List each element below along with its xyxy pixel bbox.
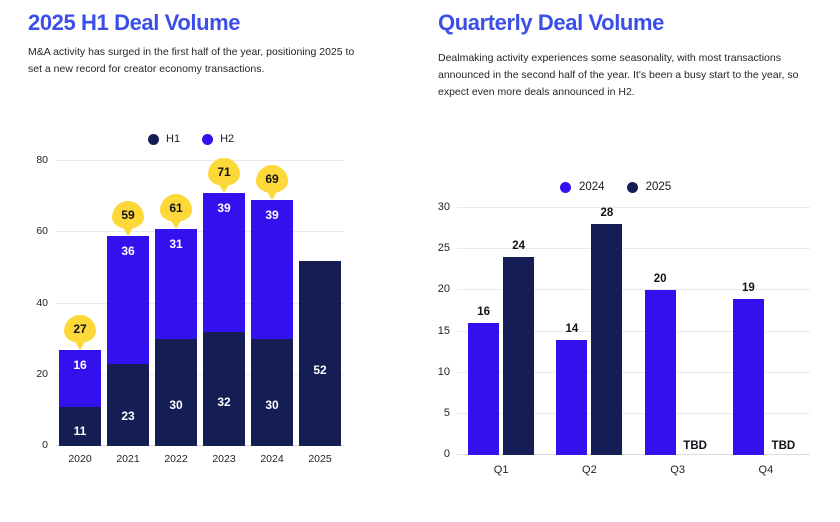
- bar-value-label: 30: [251, 398, 293, 412]
- bar-segment-h2[interactable]: 36: [107, 236, 149, 364]
- pin-tail-icon: [169, 217, 183, 229]
- bar-segment-h1[interactable]: 52: [299, 261, 341, 446]
- bar-segment-h1[interactable]: 30: [251, 339, 293, 446]
- pin-tail-icon: [217, 181, 231, 193]
- y-axis-tick-label: 5: [444, 407, 450, 419]
- right-panel-title: Quarterly Deal Volume: [438, 10, 664, 36]
- total-badge-pin: 59: [112, 201, 144, 229]
- bar-2024[interactable]: 20: [645, 290, 676, 455]
- left-chart-plot-area: 0204060802020111627202123365920223031612…: [56, 161, 344, 446]
- stacked-bar[interactable]: 233659: [107, 161, 149, 446]
- bar-2024[interactable]: 19: [733, 299, 764, 455]
- bar-segment-h2[interactable]: 16: [59, 350, 101, 407]
- y-axis-tick-label: 25: [438, 242, 450, 254]
- legend-dot-h1-icon: [148, 134, 159, 145]
- legend-label-h2: H2: [220, 133, 234, 145]
- stacked-bar[interactable]: 303161: [155, 161, 197, 446]
- bar-placeholder-2025: TBD: [680, 435, 711, 455]
- stacked-bar[interactable]: 303969: [251, 161, 293, 446]
- legend-label-2025: 2025: [646, 181, 672, 193]
- y-axis-tick-label: 30: [438, 201, 450, 213]
- bar-segment-h2[interactable]: 31: [155, 229, 197, 339]
- total-badge-pin: 27: [64, 315, 96, 343]
- total-badge-value: 59: [112, 201, 144, 229]
- legend-dot-2025-icon: [627, 182, 638, 193]
- bar-value-label: 16: [59, 358, 101, 372]
- bar-value-label: 14: [556, 323, 587, 335]
- legend-dot-2024-icon: [560, 182, 571, 193]
- bar-value-label: 19: [733, 282, 764, 294]
- x-axis-tick-label: 2020: [68, 453, 91, 465]
- bar-segment-h1[interactable]: 11: [59, 407, 101, 446]
- left-panel-title: 2025 H1 Deal Volume: [28, 10, 240, 36]
- gridline: 30: [457, 207, 810, 208]
- right-chart-plot-area: 051015202530Q11624Q21428Q320TBDQ419TBD: [457, 208, 810, 455]
- legend-label-h1: H1: [166, 133, 180, 145]
- bar-placeholder-2025: TBD: [768, 435, 799, 455]
- total-badge-pin: 61: [160, 194, 192, 222]
- x-axis-tick-label: Q1: [494, 464, 509, 476]
- y-axis-tick-label: 60: [36, 225, 48, 237]
- y-axis-tick-label: 10: [438, 366, 450, 378]
- total-badge-value: 69: [256, 165, 288, 193]
- right-chart: 051015202530Q11624Q21428Q320TBDQ419TBD: [420, 195, 840, 485]
- bar-segment-h1[interactable]: 32: [203, 332, 245, 446]
- left-panel: 2025 H1 Deal Volume M&A activity has sur…: [0, 0, 420, 522]
- y-axis-tick-label: 20: [36, 368, 48, 380]
- x-axis-tick-label: 2023: [212, 453, 235, 465]
- bar-value-label: 24: [503, 240, 534, 252]
- bar-value-label: 32: [203, 395, 245, 409]
- stacked-bar[interactable]: 111627: [59, 161, 101, 446]
- left-chart-legend: H1 H2: [148, 133, 234, 145]
- bar-tbd-label: TBD: [768, 440, 799, 452]
- legend-item-2025: 2025: [627, 181, 672, 193]
- bar-value-label: 39: [251, 208, 293, 222]
- right-panel-description: Dealmaking activity experiences some sea…: [438, 50, 810, 101]
- legend-item-2024: 2024: [560, 181, 605, 193]
- bar-value-label: 16: [468, 306, 499, 318]
- left-panel-description: M&A activity has surged in the first hal…: [28, 44, 358, 78]
- y-axis-tick-label: 40: [36, 297, 48, 309]
- total-badge-pin: 71: [208, 158, 240, 186]
- stacked-bar[interactable]: 52: [299, 161, 341, 446]
- bar-value-label: 30: [155, 398, 197, 412]
- y-axis-tick-label: 80: [36, 154, 48, 166]
- bar-2025[interactable]: 24: [503, 257, 534, 455]
- bar-2024[interactable]: 16: [468, 323, 499, 455]
- pin-tail-icon: [73, 338, 87, 350]
- legend-item-h1: H1: [148, 133, 180, 145]
- bar-2024[interactable]: 14: [556, 340, 587, 455]
- left-chart: 0204060802020111627202123365920223031612…: [0, 150, 400, 480]
- bar-segment-h1[interactable]: 30: [155, 339, 197, 446]
- total-badge-value: 61: [160, 194, 192, 222]
- y-axis-tick-label: 0: [42, 439, 48, 451]
- bar-value-label: 23: [107, 409, 149, 423]
- pin-tail-icon: [265, 188, 279, 200]
- bar-value-label: 36: [107, 244, 149, 258]
- bar-value-label: 20: [645, 273, 676, 285]
- bar-value-label: 28: [591, 207, 622, 219]
- total-badge-value: 71: [208, 158, 240, 186]
- x-axis-tick-label: Q2: [582, 464, 597, 476]
- bar-value-label: 11: [59, 424, 101, 438]
- x-axis-tick-label: Q3: [670, 464, 685, 476]
- x-axis-tick-label: 2024: [260, 453, 283, 465]
- right-chart-legend: 2024 2025: [560, 181, 671, 193]
- x-axis-tick-label: 2022: [164, 453, 187, 465]
- x-axis-tick-label: 2025: [308, 453, 331, 465]
- y-axis-tick-label: 15: [438, 325, 450, 337]
- bar-segment-h2[interactable]: 39: [203, 193, 245, 332]
- bar-value-label: 31: [155, 237, 197, 251]
- bar-segment-h1[interactable]: 23: [107, 364, 149, 446]
- x-axis-tick-label: 2021: [116, 453, 139, 465]
- legend-dot-h2-icon: [202, 134, 213, 145]
- bar-value-label: 39: [203, 201, 245, 215]
- legend-item-h2: H2: [202, 133, 234, 145]
- pin-tail-icon: [121, 224, 135, 236]
- stacked-bar[interactable]: 323971: [203, 161, 245, 446]
- bar-value-label: 52: [299, 363, 341, 377]
- total-badge-value: 27: [64, 315, 96, 343]
- y-axis-tick-label: 0: [444, 448, 450, 460]
- legend-label-2024: 2024: [579, 181, 605, 193]
- bar-2025[interactable]: 28: [591, 224, 622, 455]
- x-axis-tick-label: Q4: [759, 464, 774, 476]
- total-badge-pin: 69: [256, 165, 288, 193]
- bar-tbd-label: TBD: [680, 440, 711, 452]
- bar-segment-h2[interactable]: 39: [251, 200, 293, 339]
- y-axis-tick-label: 20: [438, 283, 450, 295]
